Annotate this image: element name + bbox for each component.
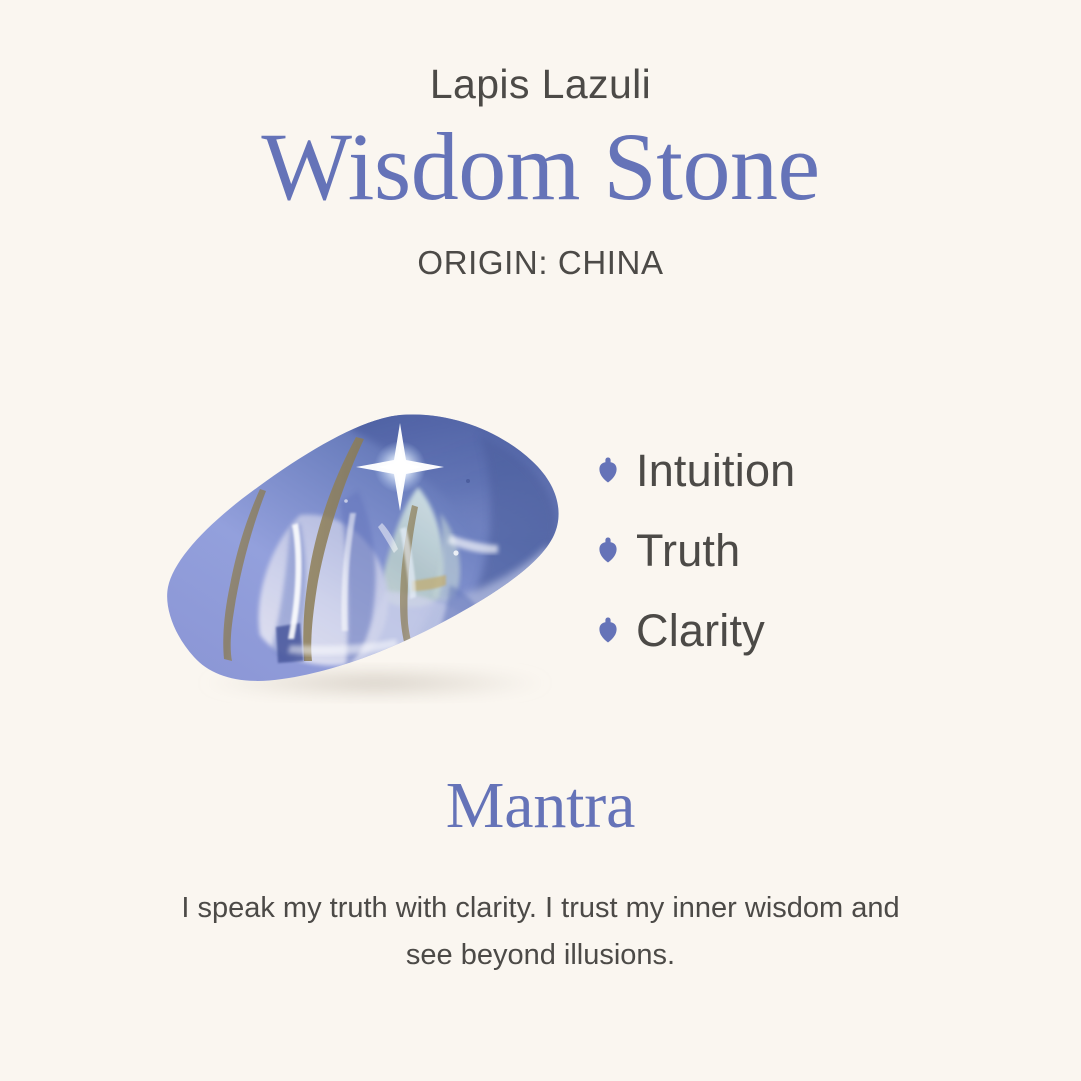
gem-bullet-icon [598,537,618,563]
gemstone-illustration [150,395,570,705]
stone-detail-section: Intuition Truth Clarity [0,385,1081,715]
mantra-title: Mantra [0,770,1081,843]
attribute-label: Clarity [636,608,765,653]
stone-body [150,395,570,705]
attribute-label: Truth [636,528,740,573]
list-item: Truth [598,510,795,590]
card-header: Lapis Lazuli Wisdom Stone ORIGIN: CHINA [0,0,1081,282]
list-item: Clarity [598,590,795,670]
list-item: Intuition [598,430,795,510]
stone-name: Lapis Lazuli [0,0,1081,107]
gem-bullet-icon [598,617,618,643]
stone-card: Lapis Lazuli Wisdom Stone ORIGIN: CHINA [0,0,1081,1081]
mantra-text: I speak my truth with clarity. I trust m… [161,843,921,979]
mantra-section: Mantra I speak my truth with clarity. I … [0,770,1081,979]
attributes-list: Intuition Truth Clarity [598,430,795,670]
page-title: Wisdom Stone [0,107,1081,218]
gemstone-svg [150,395,570,705]
attribute-label: Intuition [636,448,795,493]
stone-origin: ORIGIN: CHINA [0,218,1081,282]
gem-bullet-icon [598,457,618,483]
